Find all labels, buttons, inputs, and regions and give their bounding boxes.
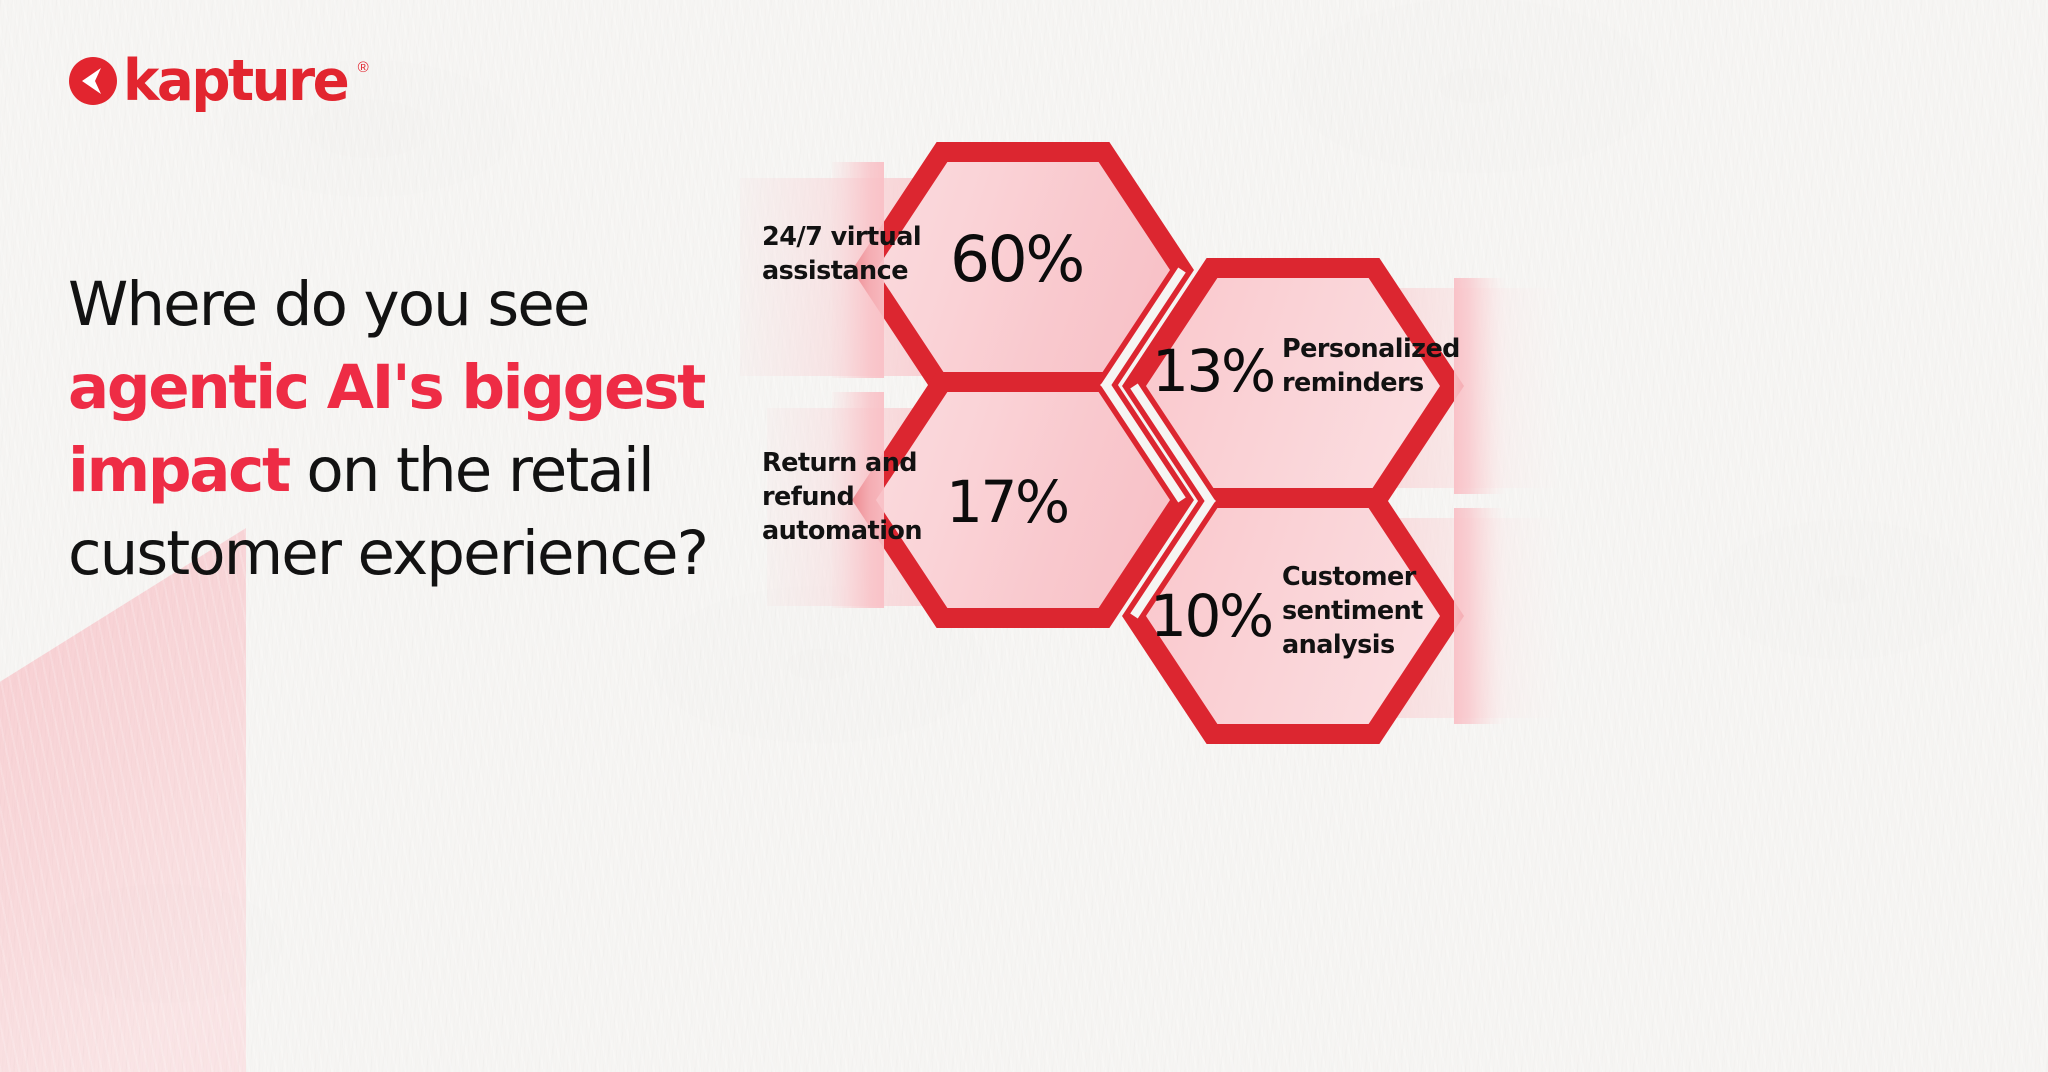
hexagon-value-60: 60% — [950, 228, 1083, 291]
headline-line-4: customer experience? — [68, 512, 788, 595]
hexagon-value-10: 10% — [1150, 587, 1272, 645]
logo-wordmark: kapture — [123, 53, 347, 110]
registered-trademark-icon: ® — [358, 59, 369, 76]
hexagon-label-10: Customer sentiment analysis — [1282, 560, 1492, 662]
headline-line-1: Where do you see — [68, 263, 788, 346]
headline-line-3-accent: impact — [68, 435, 289, 506]
hexagon-label-17: Return and refund automation — [762, 446, 952, 548]
decorative-triangle — [0, 528, 264, 1072]
headline-line-2: agentic AI's biggest — [68, 346, 788, 429]
hexagon-chart: 60% 24/7 virtual assistance 13% Personal… — [712, 120, 2032, 760]
hexagon-value-17: 17% — [946, 473, 1068, 531]
hexagon-label-60: 24/7 virtual assistance — [762, 220, 952, 288]
headline-line-3-rest: on the retail — [289, 435, 653, 506]
kapture-logo[interactable]: kapture ® — [68, 52, 369, 110]
page-title: Where do you see agentic AI's biggest im… — [68, 263, 788, 595]
kapture-play-mark-icon — [68, 56, 118, 106]
hexagon-chart-graphic — [712, 120, 2032, 760]
hexagon-label-13: Personalized reminders — [1282, 332, 1512, 400]
hexagon-value-13: 13% — [1152, 342, 1274, 400]
infographic-canvas: kapture ® Where do you see agentic AI's … — [0, 0, 2048, 1072]
